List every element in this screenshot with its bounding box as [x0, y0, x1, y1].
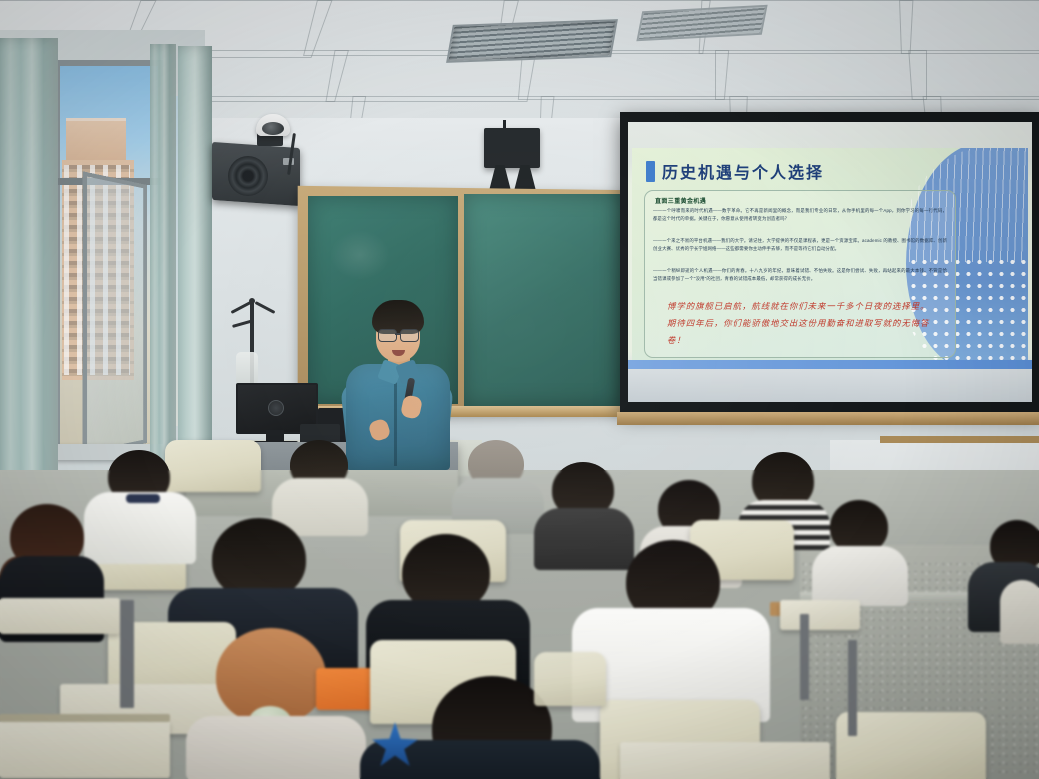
- chalk-smudge: [330, 230, 390, 280]
- desk-leg: [800, 614, 809, 700]
- speaker-cone-icon: [228, 156, 268, 196]
- glasses-bridge-icon: [395, 333, 400, 335]
- student-body: [812, 546, 908, 606]
- student-desk: [0, 598, 120, 634]
- right-wall-rail: [880, 436, 1039, 443]
- slide-paragraph-3: ——一个稍纵即逝的个人机遇——你们的青春。十八九岁的年纪，意味着试错、不怕失败。…: [653, 267, 947, 283]
- student-body: [1000, 580, 1039, 644]
- slide-content-box: 直面三重黄金机遇 ——一个呼啸而来的时代机遇——数字革命。它不再是新闻里的概念，…: [644, 190, 956, 358]
- projected-slide: 历史机遇与个人选择 直面三重黄金机遇 ——一个呼啸而来的时代机遇——数字革命。它…: [632, 148, 1028, 366]
- screen-lower-blank: [628, 369, 1032, 402]
- chair-back: [534, 652, 606, 706]
- chair-back: [836, 712, 986, 779]
- screen-lower-rail: [617, 412, 1039, 425]
- shirt-collar-stripe: [126, 494, 160, 503]
- presenter-shirt: [346, 364, 450, 470]
- student-desk: [620, 742, 830, 779]
- teal-curtain-right[interactable]: [178, 46, 212, 476]
- orange-bag: [316, 668, 378, 710]
- student-desk: [0, 720, 170, 778]
- desk-leg: [848, 640, 857, 736]
- air-vent-icon: [446, 19, 618, 63]
- student-body: [186, 716, 366, 779]
- presenter-shirt-placket: [394, 374, 397, 466]
- desk-edge: [0, 714, 170, 722]
- student-desk: [780, 600, 860, 630]
- glasses-left-lens-icon: [378, 329, 397, 342]
- classroom-photo: 历史机遇与个人选择 直面三重黄金机遇 ——一个呼啸而来的时代机遇——数字革命。它…: [0, 0, 1039, 779]
- student-body: [534, 508, 634, 570]
- camera-lens-icon: [262, 122, 284, 135]
- presenter: [340, 300, 458, 470]
- chair-back: [165, 440, 261, 492]
- window-open-sash[interactable]: [83, 171, 147, 457]
- dell-logo-icon: [268, 400, 284, 416]
- slide-paragraph-2: ——一个来之不易的平台机遇——我们的大学。请记住，大学提供的不仅是课程表，更是一…: [653, 237, 947, 253]
- desk-leg: [120, 600, 134, 708]
- slide-title-accent-bar: [646, 161, 655, 182]
- slide-subtitle: 直面三重黄金机遇: [655, 196, 706, 205]
- chalkboard-panel-right[interactable]: [464, 194, 622, 406]
- wall-mounted-speaker: [484, 128, 540, 168]
- teal-curtain-left[interactable]: [0, 38, 58, 506]
- slide-red-handwritten-text: 博学的旗舰已启航，航线就在你们未来一千多个日夜的选择里。期待四年后，你们能骄傲地…: [667, 299, 937, 349]
- glasses-right-lens-icon: [400, 329, 419, 342]
- slide-bottom-bar: [628, 360, 1032, 369]
- slide-paragraph-1: ——一个呼啸而来的时代机遇——数字革命。它不再是新闻里的概念，而是我们专业的日常…: [653, 207, 947, 223]
- teal-curtain-middle[interactable]: [150, 44, 176, 474]
- slide-title: 历史机遇与个人选择: [662, 159, 824, 183]
